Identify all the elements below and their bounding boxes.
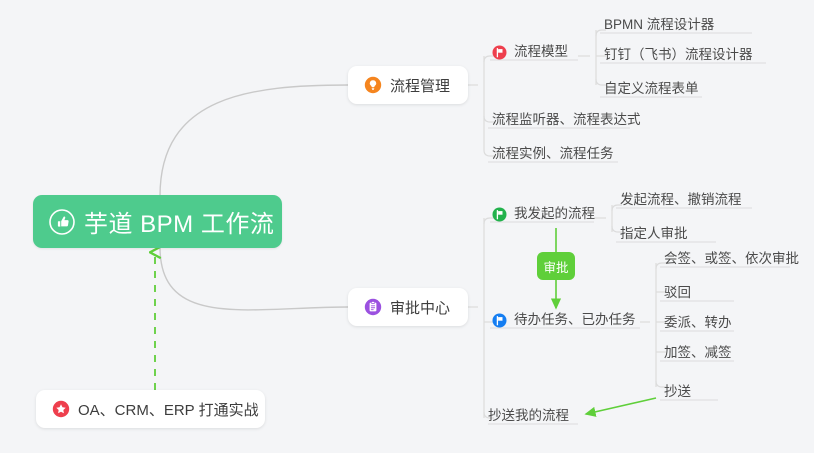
label-assignee-approval: 指定人审批 xyxy=(620,222,688,242)
thumbs-up-icon xyxy=(49,209,75,235)
lightbulb-pin-icon xyxy=(364,76,382,94)
label-dingtalk-feishu-designer: 钉钉（飞书）流程设计器 xyxy=(604,43,753,63)
node-start-cancel-process[interactable]: 发起流程、撤销流程 xyxy=(620,188,742,211)
node-my-initiated-process[interactable]: 我发起的流程 xyxy=(492,202,595,225)
root-label: 芋道 BPM 工作流 xyxy=(84,204,274,239)
node-dingtalk-feishu-designer[interactable]: 钉钉（飞书）流程设计器 xyxy=(604,43,753,66)
label-process-instance-task: 流程实例、流程任务 xyxy=(492,142,614,162)
node-process-listener-expression[interactable]: 流程监听器、流程表达式 xyxy=(492,108,641,131)
node-cc[interactable]: 抄送 xyxy=(664,380,691,403)
bottom-card-node[interactable]: OA、CRM、ERP 打通实战 xyxy=(36,390,265,428)
branch-label-process-management: 流程管理 xyxy=(390,75,450,96)
connector-root-to-process-management xyxy=(160,85,348,196)
bottom-card-label: OA、CRM、ERP 打通实战 xyxy=(78,399,259,420)
clipboard-icon xyxy=(364,298,382,316)
connector-root-to-approval-center xyxy=(160,247,348,310)
flag-icon xyxy=(492,45,507,60)
node-todo-done-task[interactable]: 待办任务、已办任务 xyxy=(492,308,636,331)
label-custom-process-form: 自定义流程表单 xyxy=(604,77,699,97)
flag-icon xyxy=(492,313,507,328)
label-my-initiated-process: 我发起的流程 xyxy=(514,202,595,222)
flag-icon xyxy=(492,207,507,222)
label-bpmn-designer: BPMN 流程设计器 xyxy=(604,13,714,33)
branch-node-approval-center[interactable]: 审批中心 xyxy=(348,288,468,326)
node-bpmn-designer[interactable]: BPMN 流程设计器 xyxy=(604,13,714,36)
label-todo-done-task: 待办任务、已办任务 xyxy=(514,308,636,328)
node-custom-process-form[interactable]: 自定义流程表单 xyxy=(604,77,699,100)
node-delegate-transfer[interactable]: 委派、转办 xyxy=(664,311,732,334)
node-assignee-approval[interactable]: 指定人审批 xyxy=(620,222,688,245)
label-cc-to-me-process: 抄送我的流程 xyxy=(488,404,569,424)
node-process-model[interactable]: 流程模型 xyxy=(492,40,568,63)
annotation-tag-approval-label: 审批 xyxy=(543,257,568,276)
label-process-listener-expression: 流程监听器、流程表达式 xyxy=(492,108,641,128)
node-process-instance-task[interactable]: 流程实例、流程任务 xyxy=(492,142,614,165)
label-cc: 抄送 xyxy=(664,380,691,400)
label-reject: 驳回 xyxy=(664,281,691,301)
node-countersign-orsign-sequential[interactable]: 会签、或签、依次审批 xyxy=(664,247,799,270)
node-cc-to-me-process[interactable]: 抄送我的流程 xyxy=(488,404,569,427)
label-delegate-transfer: 委派、转办 xyxy=(664,311,732,331)
mindmap-canvas: 芋道 BPM 工作流 流程管理 审批中心 xyxy=(0,0,814,453)
label-countersign-orsign-sequential: 会签、或签、依次审批 xyxy=(664,247,799,267)
branch-label-approval-center: 审批中心 xyxy=(390,297,450,318)
label-process-model: 流程模型 xyxy=(514,40,568,60)
node-add-remove-sign[interactable]: 加签、减签 xyxy=(664,341,732,364)
node-reject[interactable]: 驳回 xyxy=(664,281,691,304)
star-icon xyxy=(52,400,70,418)
root-node[interactable]: 芋道 BPM 工作流 xyxy=(33,195,282,248)
label-add-remove-sign: 加签、减签 xyxy=(664,341,732,361)
label-start-cancel-process: 发起流程、撤销流程 xyxy=(620,188,742,208)
branch-node-process-management[interactable]: 流程管理 xyxy=(348,66,468,104)
annotation-tag-approval: 审批 xyxy=(537,252,575,280)
arrow-cc-to-cc-my-process xyxy=(586,398,656,414)
